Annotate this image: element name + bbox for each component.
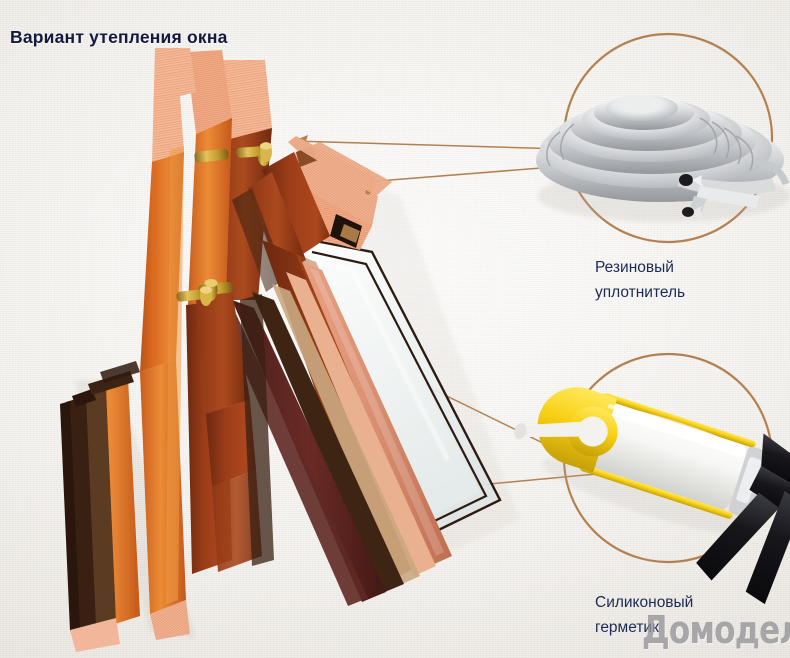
label-silicone-sealant: Силиконовый герметик (595, 590, 693, 640)
illustration-canvas: Вариант утепления окна Резиновый уплотни… (0, 0, 790, 658)
frame-endgrain-front (152, 48, 196, 162)
caulking-gun (487, 360, 790, 620)
window-cross-section-illustration (0, 0, 790, 658)
rubber-seal-callout (536, 34, 790, 242)
rubber-seal-coil (536, 95, 790, 222)
silicone-sealant-callout (487, 354, 790, 620)
frame-face-mid (188, 118, 232, 305)
label-rubber-seal: Резиновый уплотнитель (595, 255, 685, 305)
page-title: Вариант утепления окна (10, 27, 228, 48)
